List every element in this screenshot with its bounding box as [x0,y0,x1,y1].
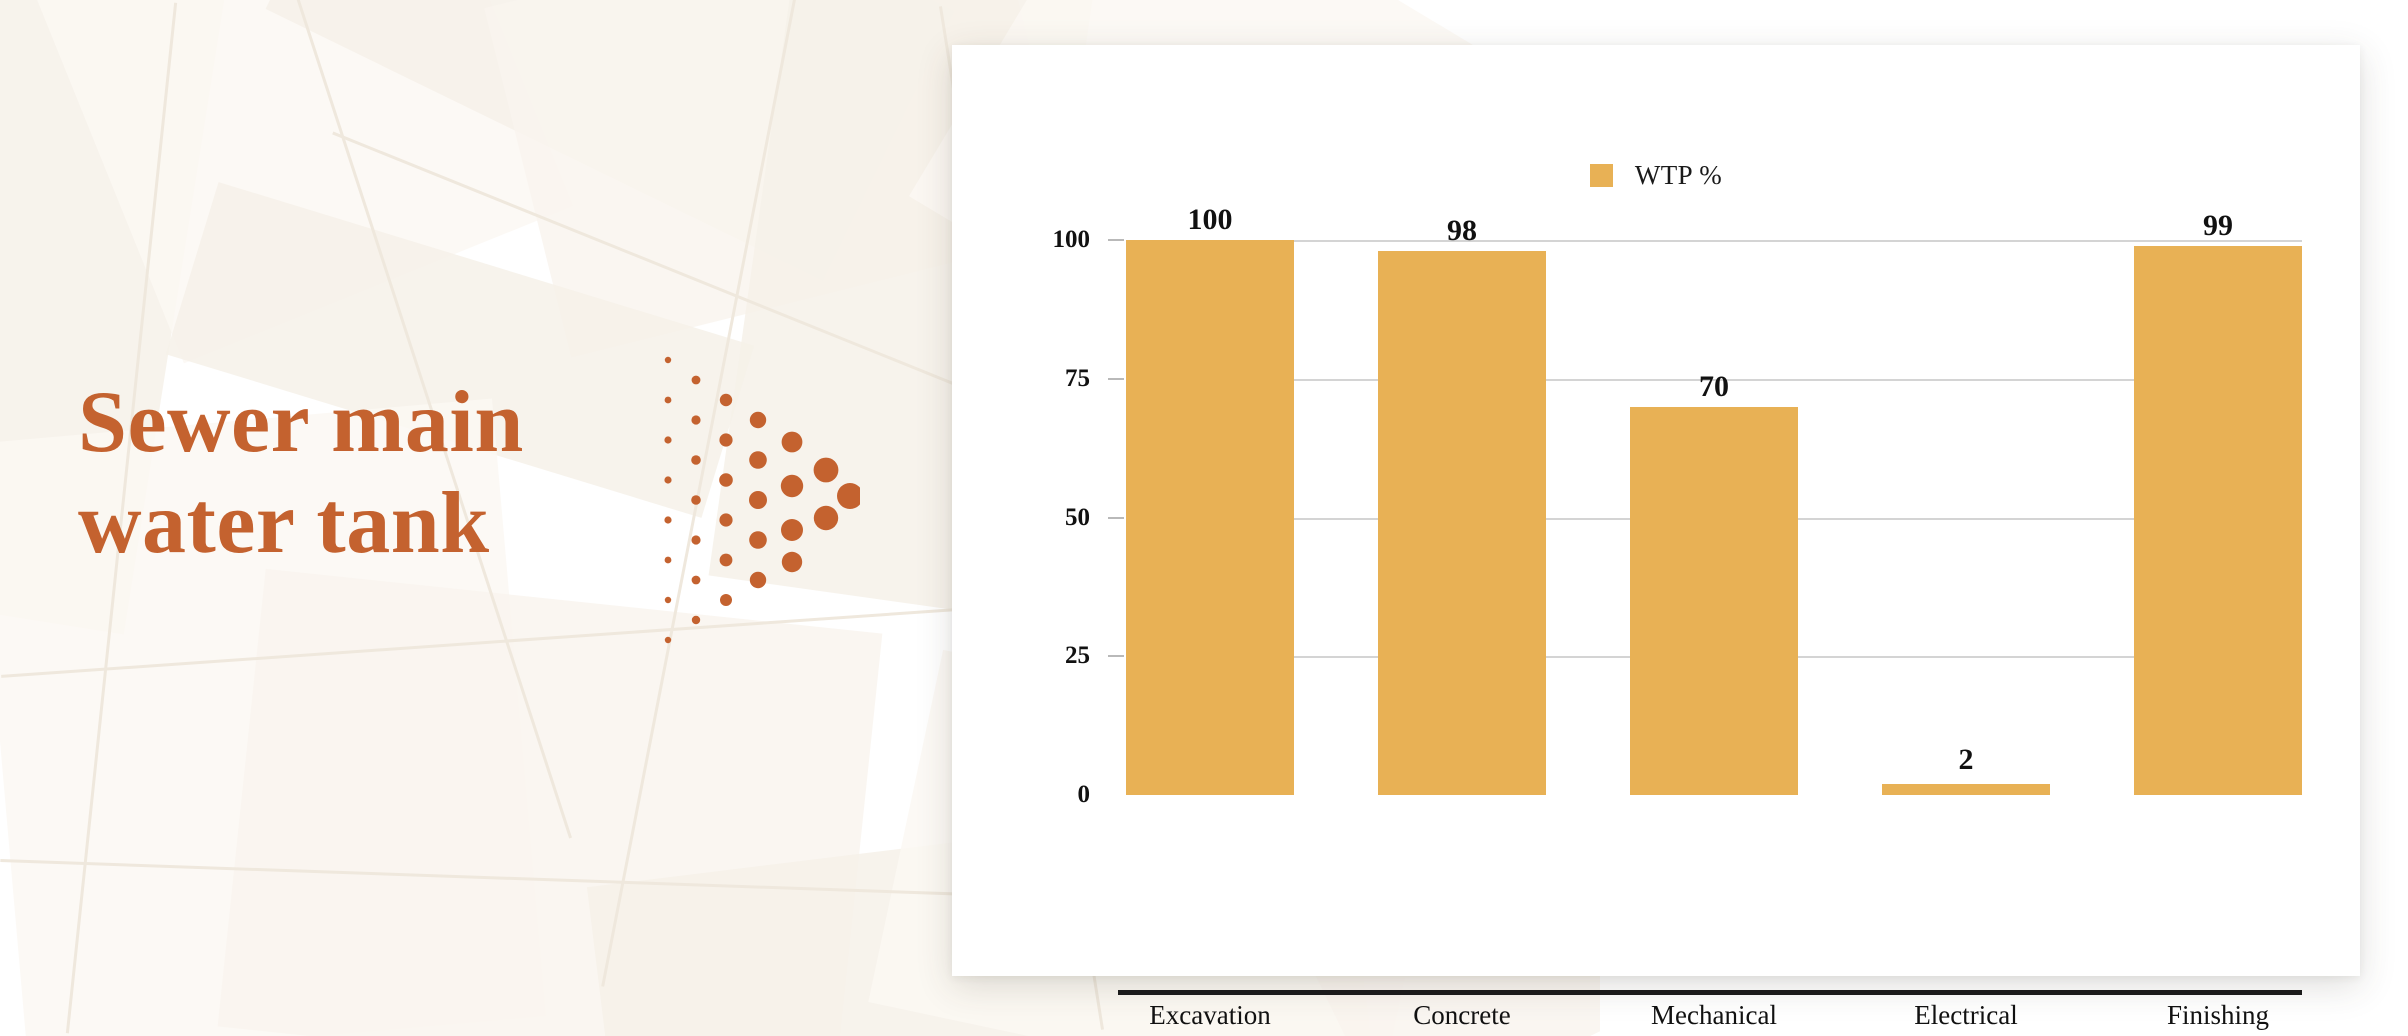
chart-bars: 100 98 70 2 99 [1126,240,2302,795]
bar-finishing[interactable] [2134,246,2302,795]
bar-value-label: 98 [1447,214,1477,248]
x-label-excavation: Excavation [1126,1000,1294,1031]
y-tick-label: 0 [1078,781,1091,809]
y-tick-label: 100 [1053,226,1091,254]
y-tick-label: 25 [1065,642,1090,670]
x-axis-line [1118,990,2302,995]
x-label-concrete: Concrete [1378,1000,1546,1031]
y-tick-label: 50 [1065,504,1090,532]
chart-legend: WTP % [952,160,2360,191]
chart-card: WTP % 100 75 50 25 0 [952,45,2360,976]
x-axis-labels: Excavation Concrete Mechanical Electrica… [1126,1000,2302,1031]
slide: Sewer main water tank [0,0,2408,1036]
x-label-mechanical: Mechanical [1630,1000,1798,1031]
x-label-finishing: Finishing [2134,1000,2302,1031]
bar-electrical[interactable] [1882,784,2050,795]
legend-swatch-icon [1590,164,1613,187]
bar-group-excavation[interactable]: 100 [1126,240,1294,795]
bar-group-mechanical[interactable]: 70 [1630,240,1798,795]
bar-mechanical[interactable] [1630,407,1798,796]
bar-excavation[interactable] [1126,240,1294,795]
bar-value-label: 100 [1188,203,1233,237]
slide-title: Sewer main water tank [78,372,698,574]
bar-value-label: 2 [1959,743,1974,777]
bar-value-label: 70 [1699,370,1729,404]
x-label-electrical: Electrical [1882,1000,2050,1031]
bar-value-label: 99 [2203,209,2233,243]
dot-pattern-icon [660,350,860,670]
bar-group-concrete[interactable]: 98 [1378,240,1546,795]
bar-group-electrical[interactable]: 2 [1882,240,2050,795]
slide-title-line-2: water tank [78,473,698,574]
y-axis: 100 75 50 25 0 [1030,240,1104,795]
bar-group-finishing[interactable]: 99 [2134,240,2302,795]
triangular-dot-gradient-decoration [660,350,860,670]
chart-plot-area: 100 75 50 25 0 100 [1030,240,2302,870]
bar-concrete[interactable] [1378,251,1546,795]
slide-title-line-1: Sewer main [78,372,698,473]
y-tick-label: 75 [1065,365,1090,393]
legend-label: WTP % [1635,160,1722,191]
